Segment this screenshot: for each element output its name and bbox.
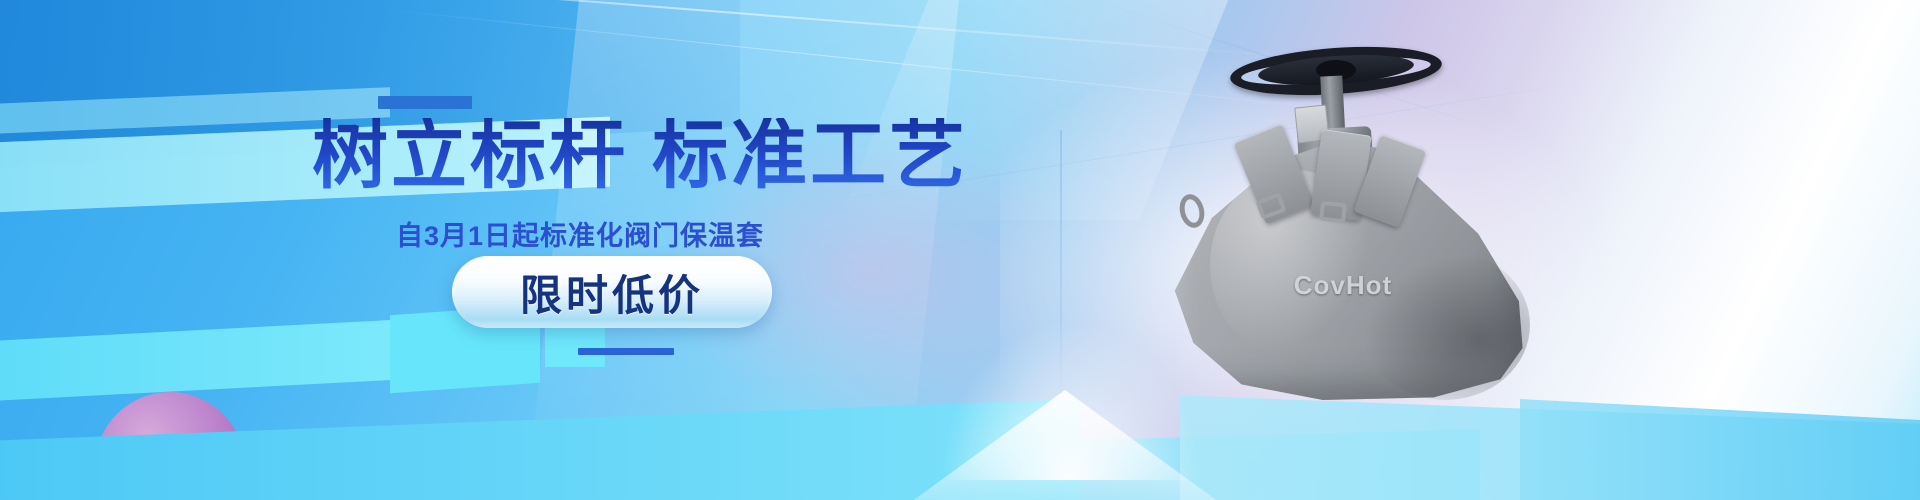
- page-title: 树立标杆 标准工艺: [312, 118, 968, 194]
- promo-banner: 树立标杆 标准工艺 自3月1日起标准化阀门保温套 限时低价 CovHot: [0, 0, 1920, 500]
- brand-logo-text: CovHot: [1268, 268, 1418, 302]
- decor-vertical-line: [1060, 130, 1062, 460]
- subtitle: 自3月1日起标准化阀门保温套: [396, 214, 764, 253]
- cta-button-label[interactable]: 限时低价: [452, 256, 772, 328]
- d-ring: [1176, 192, 1208, 231]
- banner-copy: 树立标杆 标准工艺 自3月1日起标准化阀门保温套 限时低价: [0, 0, 960, 500]
- product-image: CovHot: [1130, 20, 1560, 440]
- underline-bar: [578, 348, 674, 355]
- buckle-right: [1319, 201, 1347, 224]
- decor-bottom-band-4: [1520, 399, 1920, 500]
- accent-bar: [378, 96, 472, 109]
